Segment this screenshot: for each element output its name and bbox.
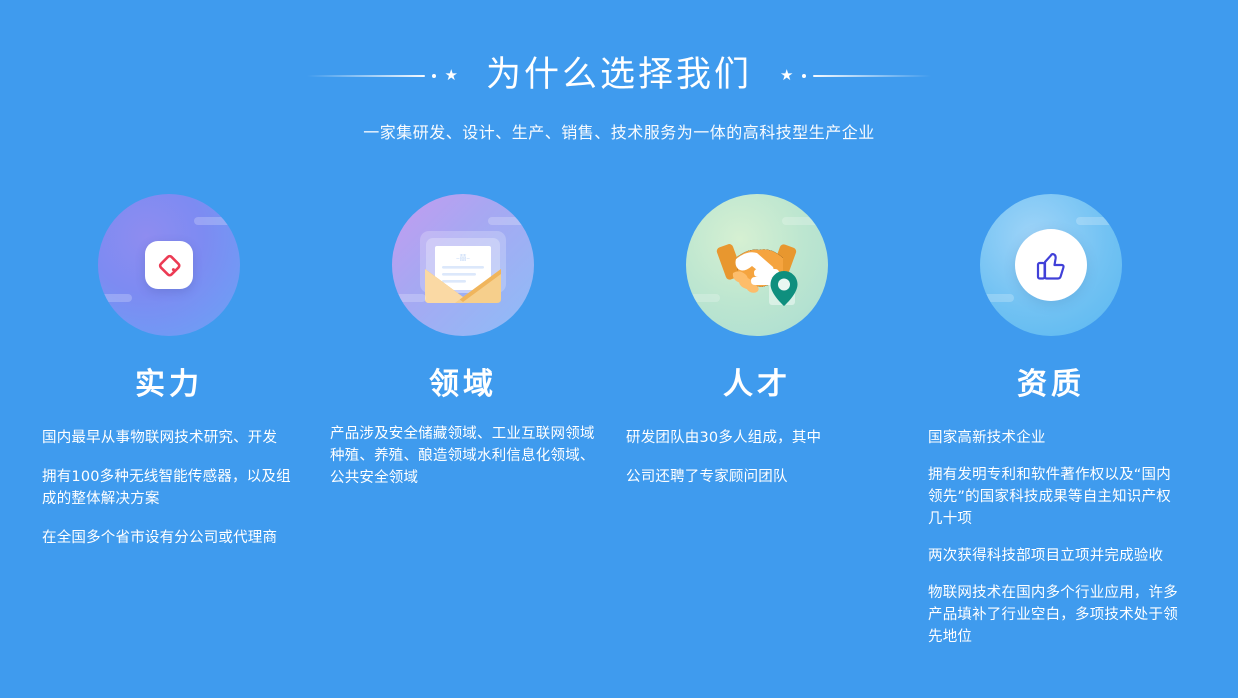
feature-column-strength: 实力 国内最早从事物联网技术研究、开发 拥有100多种无线智能传感器，以及组成的… <box>22 185 316 549</box>
orb-background <box>980 194 1122 336</box>
bullet-item: 拥有发明专利和软件著作权以及“国内领先”的国家科技成果等自主知识产权几十项 <box>928 464 1184 530</box>
icon-container <box>918 185 1184 345</box>
column-title: 实力 <box>36 359 302 403</box>
column-title: 领域 <box>330 359 596 403</box>
feature-column-domain: –囍– 领域 产品涉及安全储藏领域、工业互联网领域种殖、养殖、酿造领域水利信息化… <box>316 185 610 503</box>
page-subtitle: 一家集研发、设计、生产、销售、技术服务为一体的高科技型生产企业 <box>0 119 1238 143</box>
bullet-item: 国家高新技术企业 <box>928 427 1184 449</box>
thumbs-up-icon <box>1030 244 1072 286</box>
envelope-letter-icon: –囍– <box>411 219 515 311</box>
decoration-line-icon <box>307 75 425 77</box>
svg-text:–囍–: –囍– <box>456 253 470 262</box>
bullet-item: 拥有100多种无线智能传感器，以及组成的整体解决方案 <box>42 466 302 510</box>
badge-plate <box>1015 229 1087 301</box>
orb-background <box>98 194 240 336</box>
bullet-item: 研发团队由30多人组成，其中 <box>626 427 890 449</box>
section-header: ★ 为什么选择我们 ★ 一家集研发、设计、生产、销售、技术服务为一体的高科技型生… <box>0 0 1238 143</box>
bullet-item: 物联网技术在国内多个行业应用，许多产品填补了行业空白，多项技术处于领先地位 <box>928 582 1184 648</box>
feature-column-qualification: 资质 国家高新技术企业 拥有发明专利和软件著作权以及“国内领先”的国家科技成果等… <box>904 185 1198 663</box>
orb-background: –囍– <box>392 194 534 336</box>
feature-columns: 实力 国内最早从事物联网技术研究、开发 拥有100多种无线智能传感器，以及组成的… <box>0 185 1238 663</box>
title-row: ★ 为什么选择我们 ★ <box>0 58 1238 93</box>
star-icon: ★ <box>780 68 793 83</box>
orb-background <box>686 194 828 336</box>
bullet-item: 在全国多个省市设有分公司或代理商 <box>42 527 302 549</box>
column-bullets: 产品涉及安全储藏领域、工业互联网领域种殖、养殖、酿造领域水利信息化领域、公共安全… <box>330 423 596 489</box>
decoration-line-icon <box>813 75 931 77</box>
bullet-item: 产品涉及安全储藏领域、工业互联网领域种殖、养殖、酿造领域水利信息化领域、公共安全… <box>330 423 596 489</box>
decoration-dot-icon <box>802 74 806 78</box>
column-bullets: 国内最早从事物联网技术研究、开发 拥有100多种无线智能传感器，以及组成的整体解… <box>36 427 302 549</box>
column-title: 人才 <box>624 359 890 403</box>
star-icon: ★ <box>445 68 458 83</box>
column-bullets: 研发团队由30多人组成，其中 公司还聘了专家顾问团队 <box>624 427 890 488</box>
bullet-item: 国内最早从事物联网技术研究、开发 <box>42 427 302 449</box>
page-title: 为什么选择我们 <box>460 58 778 93</box>
title-decoration-right: ★ <box>778 68 931 83</box>
decoration-dot-icon <box>432 74 436 78</box>
column-bullets: 国家高新技术企业 拥有发明专利和软件著作权以及“国内领先”的国家科技成果等自主知… <box>918 427 1184 648</box>
column-title: 资质 <box>918 359 1184 403</box>
icon-container <box>624 185 890 345</box>
handshake-location-icon <box>703 217 811 313</box>
badge-plate <box>145 241 193 289</box>
icon-container <box>36 185 302 345</box>
title-decoration-left: ★ <box>307 68 460 83</box>
red-diamond-tag-icon <box>154 250 184 280</box>
bullet-item: 两次获得科技部项目立项并完成验收 <box>928 545 1184 567</box>
feature-column-talent: 人才 研发团队由30多人组成，其中 公司还聘了专家顾问团队 <box>610 185 904 488</box>
icon-container: –囍– <box>330 185 596 345</box>
bullet-item: 公司还聘了专家顾问团队 <box>626 466 890 488</box>
